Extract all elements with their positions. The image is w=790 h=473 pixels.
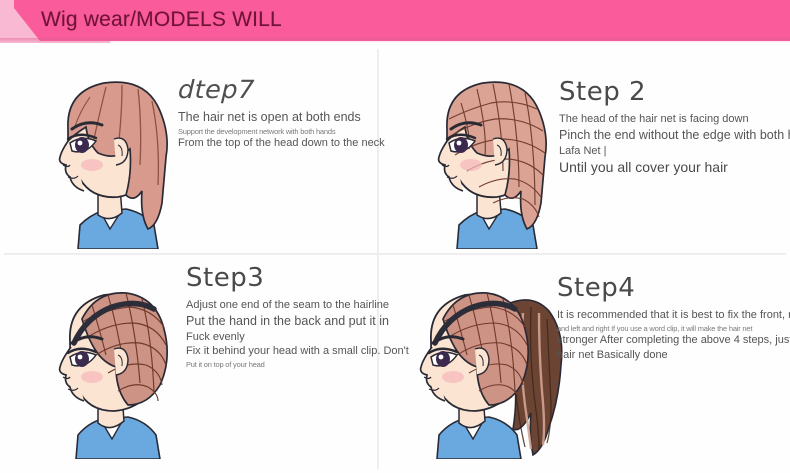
step-2-heading: Step 2: [559, 77, 756, 107]
step-4-heading: Step4: [557, 273, 756, 303]
step-4-text: Step4 It is recommended that it is best …: [557, 273, 756, 364]
step-4-line-4: hair net Basically done: [557, 349, 756, 363]
step-panel-4: Step4 It is recommended that it is best …: [379, 255, 756, 463]
step-3-line-3: Fuck evenly: [186, 331, 376, 345]
illustration-step-4: [397, 263, 582, 459]
step-2-line-1: The head of the hair net is facing down: [559, 113, 756, 127]
illustration-step-3: [30, 263, 190, 459]
step-panel-1: dtep7 The hair net is open at both ends …: [0, 45, 377, 253]
step-3-line-5: Put it on top of your head: [186, 360, 376, 369]
header-banner: Wig wear/MODELS WILL: [0, 0, 790, 43]
step-panel-3: Step3 Adjust one end of the seam to the …: [0, 255, 377, 463]
step-4-line-1: It is recommended that it is best to fix…: [557, 309, 756, 323]
step-2-line-2: Pinch the end without the edge with both…: [559, 128, 756, 144]
step-3-line-1: Adjust one end of the seam to the hairli…: [186, 299, 376, 313]
step-3-heading: Step3: [186, 263, 376, 293]
illustration-step-1: [30, 53, 190, 249]
step-1-heading: dtep7: [177, 75, 378, 104]
page-title: Wig wear/MODELS WILL: [41, 8, 282, 32]
step-3-line-2: Put the hand in the back and put it in: [186, 314, 376, 330]
steps-grid: dtep7 The hair net is open at both ends …: [0, 45, 790, 473]
banner-shadow: [0, 38, 790, 43]
step-2-line-4: Until you all cover your hair: [559, 159, 756, 177]
step-2-text: Step 2 The head of the hair net is facin…: [559, 77, 756, 178]
step-3-text: Step3 Adjust one end of the seam to the …: [186, 263, 376, 371]
step-1-line-2: Support the development network with bot…: [178, 127, 374, 136]
step-1-line-3: From the top of the head down to the nec…: [178, 137, 374, 151]
step-panel-2: Step 2 The head of the hair net is facin…: [379, 45, 756, 253]
step-1-line-1: The hair net is open at both ends: [178, 110, 374, 126]
step-4-line-2: and left and right If you use a word cli…: [557, 324, 756, 333]
step-1-text: dtep7 The hair net is open at both ends …: [178, 75, 374, 152]
step-3-line-4: Fix it behind your head with a small cli…: [186, 345, 376, 359]
step-4-line-3: stronger After completing the above 4 st…: [557, 334, 756, 348]
wig-wear-instructions-page: Wig wear/MODELS WILL: [0, 0, 790, 473]
step-2-line-3: Lafa Net |: [559, 145, 756, 159]
illustration-step-2: [409, 53, 569, 249]
